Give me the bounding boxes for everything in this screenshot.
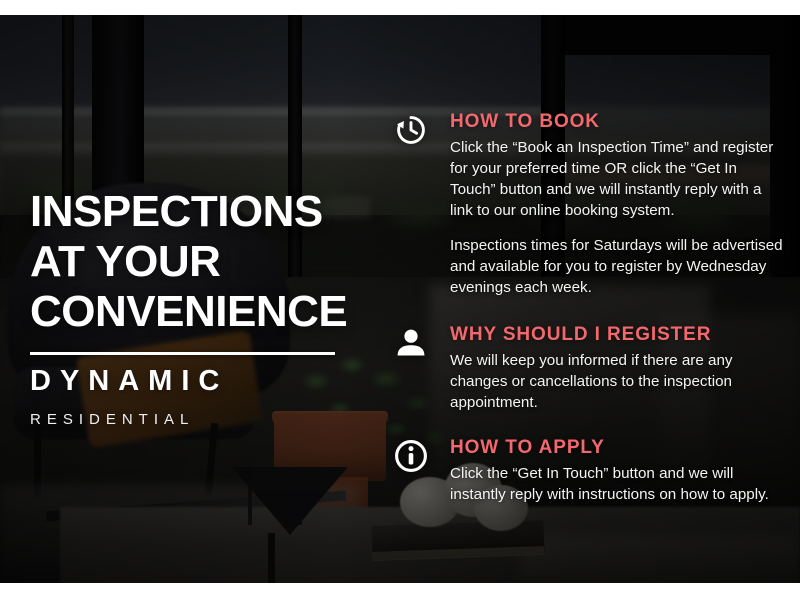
page-title-line-2: AT YOUR xyxy=(30,237,380,287)
page-title: INSPECTIONS AT YOUR CONVENIENCE xyxy=(30,187,380,337)
section-title: HOW TO BOOK xyxy=(450,111,784,133)
person-icon xyxy=(388,326,434,372)
clock-history-icon xyxy=(388,113,434,159)
headline-block: INSPECTIONS AT YOUR CONVENIENCE DYNAMIC … xyxy=(30,187,380,427)
section-title: HOW TO APPLY xyxy=(450,437,784,459)
info-sections: HOW TO BOOK Click the “Book an Inspectio… xyxy=(388,111,784,519)
section-title: WHY SHOULD I REGISTER xyxy=(450,324,784,346)
section-paragraph: Click the “Get In Touch” button and we w… xyxy=(450,463,784,505)
poster-canvas: INSPECTIONS AT YOUR CONVENIENCE DYNAMIC … xyxy=(0,0,800,600)
brand-name: DYNAMIC xyxy=(30,367,380,396)
section-how-to-book: HOW TO BOOK Click the “Book an Inspectio… xyxy=(388,111,784,298)
section-why-register: WHY SHOULD I REGISTER We will keep you i… xyxy=(388,324,784,413)
brand-divider xyxy=(30,352,335,355)
section-paragraph: Inspections times for Saturdays will be … xyxy=(450,235,784,298)
section-how-to-apply: HOW TO APPLY Click the “Get In Touch” bu… xyxy=(388,437,784,505)
info-icon xyxy=(388,439,434,485)
brand-subtitle: RESIDENTIAL xyxy=(30,412,380,427)
section-paragraph: We will keep you informed if there are a… xyxy=(450,350,784,413)
promo-banner: INSPECTIONS AT YOUR CONVENIENCE DYNAMIC … xyxy=(0,15,800,583)
page-title-line-1: INSPECTIONS xyxy=(30,187,380,237)
section-paragraph: Click the “Book an Inspection Time” and … xyxy=(450,137,784,221)
page-title-line-3: CONVENIENCE xyxy=(30,287,380,337)
